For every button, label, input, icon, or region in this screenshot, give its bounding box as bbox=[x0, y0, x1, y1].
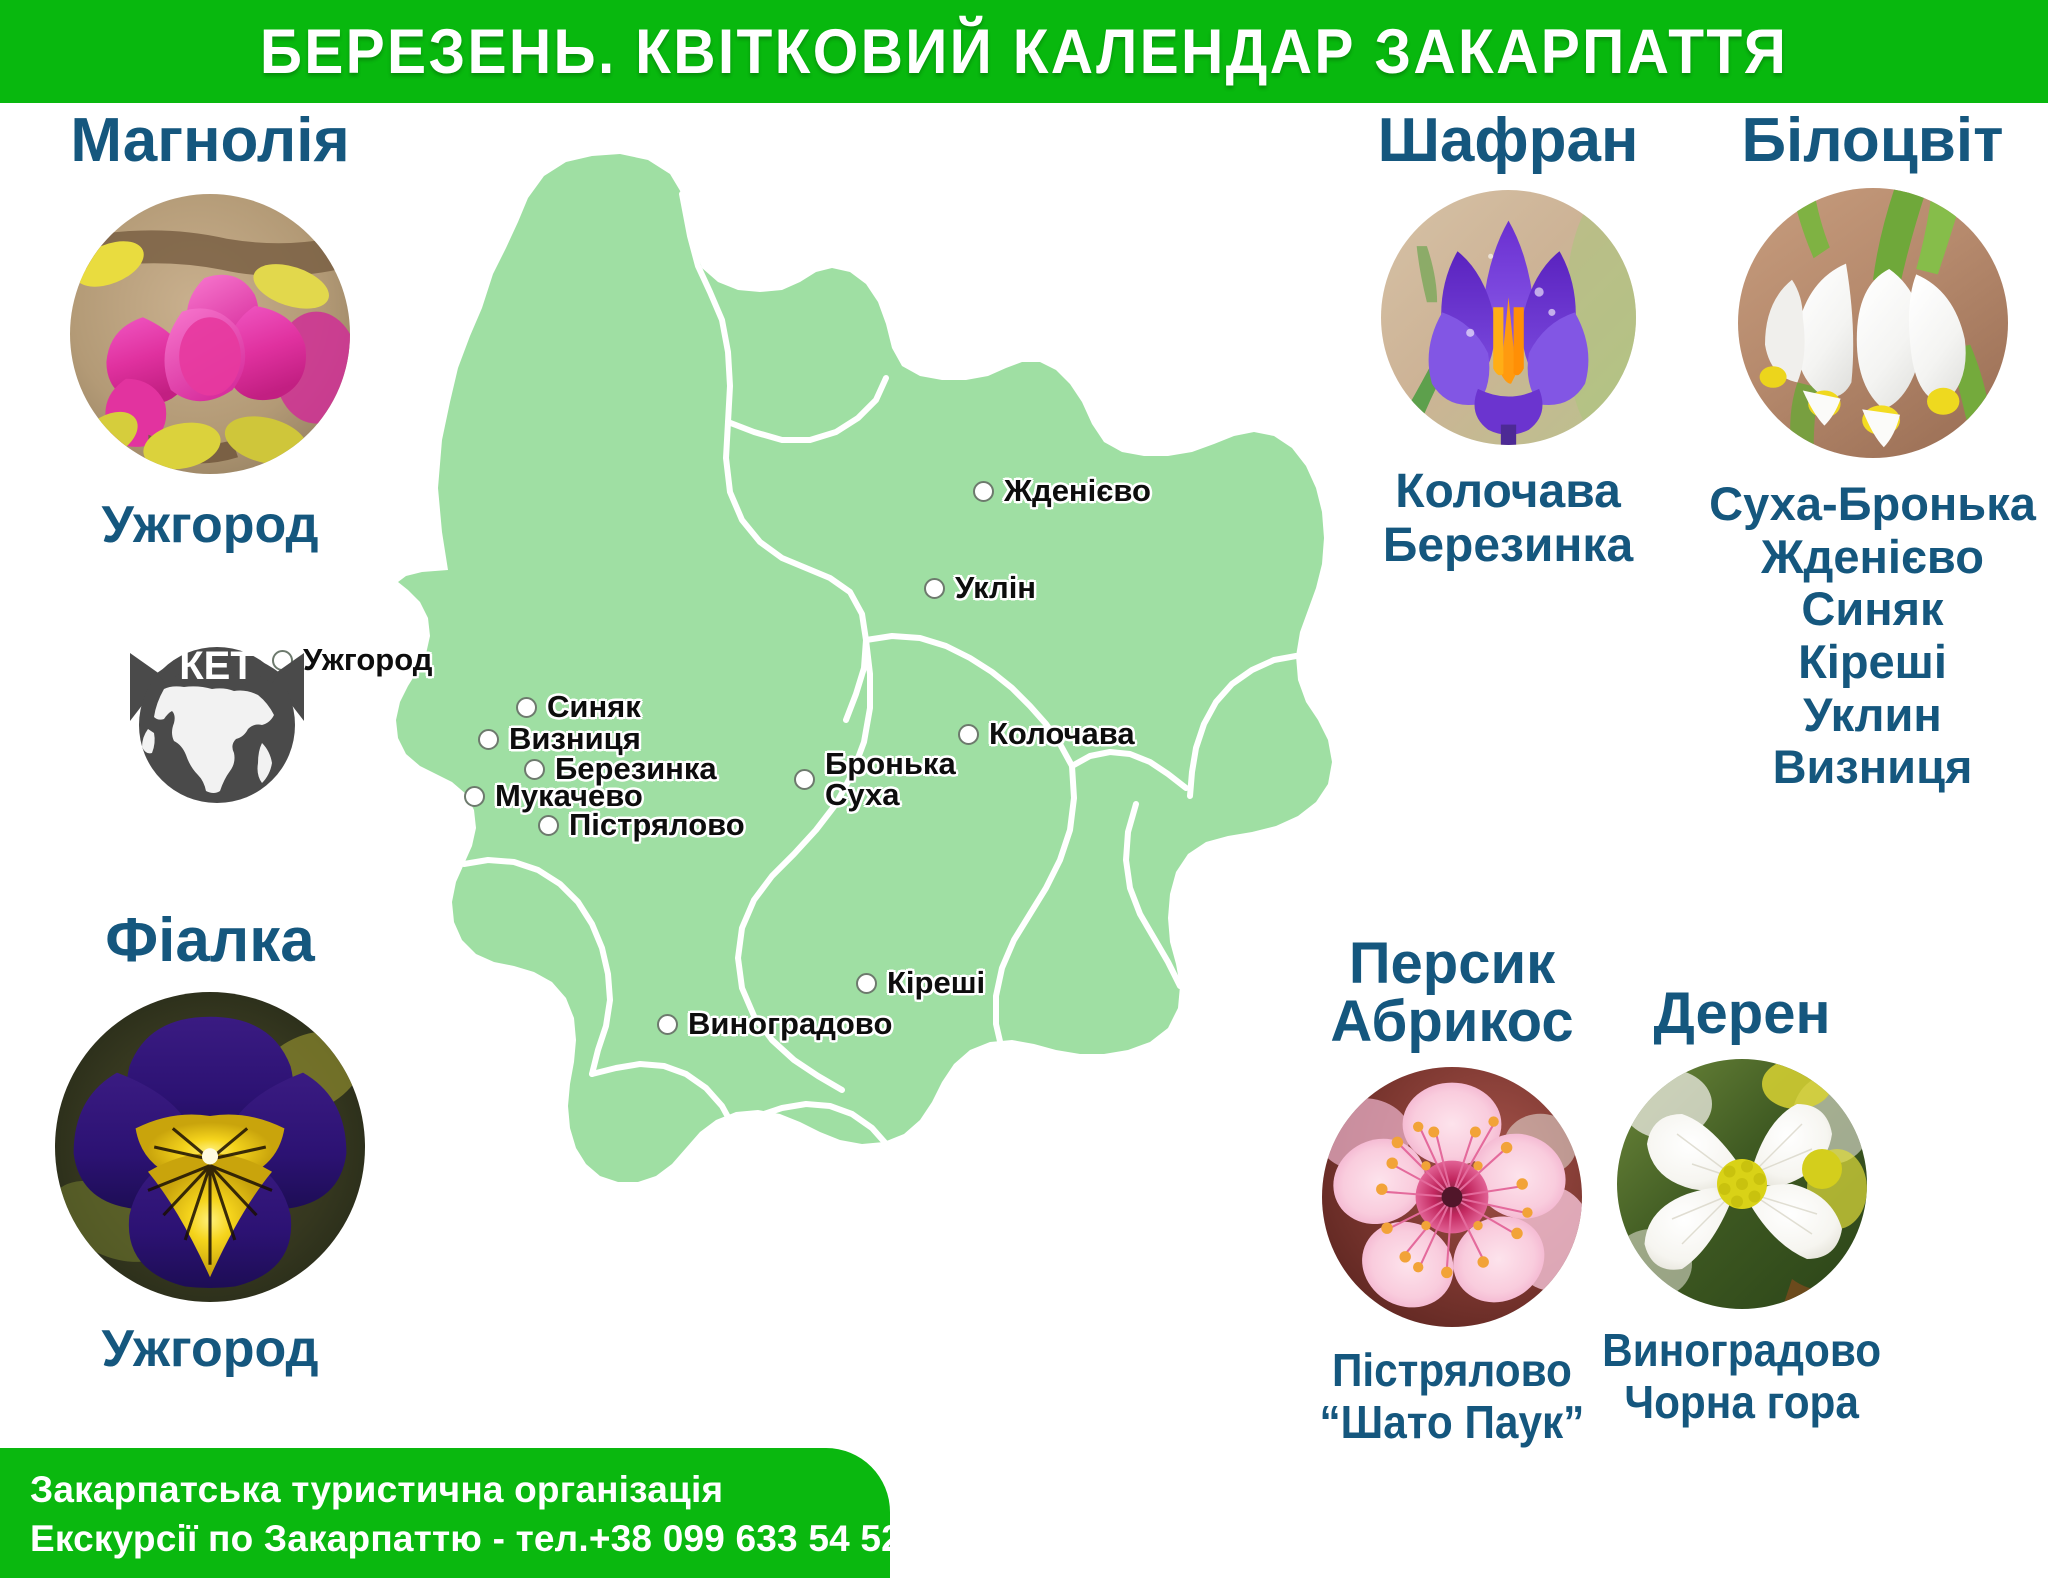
peach-photo bbox=[1322, 1067, 1582, 1327]
card-snowflake[interactable]: Білоцвіт bbox=[1700, 110, 2045, 794]
map-city-marker[interactable]: Кіреші bbox=[856, 967, 985, 1000]
city-label: Пістрялово bbox=[569, 809, 745, 842]
map-city-marker[interactable]: Жденієво bbox=[973, 475, 1151, 508]
city-dot-icon bbox=[958, 724, 979, 745]
card-violet[interactable]: Фіалка bbox=[40, 910, 380, 1378]
map-city-marker[interactable]: Синяк bbox=[516, 691, 641, 724]
card-places-peach: Пістрялово “Шато Паук” bbox=[1320, 1345, 1585, 1448]
card-magnolia[interactable]: Магнолія bbox=[40, 110, 380, 554]
page-title: БЕРЕЗЕНЬ. КВІТКОВИЙ КАЛЕНДАР ЗАКАРПАТТЯ bbox=[72, 0, 1977, 103]
violet-photo bbox=[55, 992, 365, 1302]
map-city-marker[interactable]: Уклін bbox=[924, 572, 1036, 605]
city-dot-icon bbox=[524, 759, 545, 780]
city-label: Уклін bbox=[955, 572, 1036, 605]
card-places-dogwood: Виноградово Чорна гора bbox=[1602, 1325, 1881, 1428]
map-svg bbox=[330, 140, 1340, 1300]
city-dot-icon bbox=[657, 1014, 678, 1035]
card-title-peach: Персик Абрикос bbox=[1330, 935, 1573, 1051]
snowflake-photo bbox=[1738, 188, 2008, 458]
card-title-violet: Фіалка bbox=[105, 910, 315, 972]
map-city-marker[interactable]: БронькаСуха bbox=[794, 748, 956, 810]
dogwood-photo bbox=[1617, 1059, 1867, 1309]
city-label: Кіреші bbox=[887, 967, 985, 1000]
footer-line-1: Закарпатська туристична організація bbox=[30, 1466, 890, 1515]
card-saffron[interactable]: Шафран bbox=[1358, 110, 1658, 573]
footer-line-2: Екскурсії по Закарпаттю - тел.+38 099 63… bbox=[30, 1515, 890, 1564]
region-map: Жденієво Уклін Ужгород Синяк Визниця Бер… bbox=[330, 140, 1340, 1300]
card-places-violet: Ужгород bbox=[101, 1320, 318, 1378]
city-dot-icon bbox=[464, 786, 485, 807]
city-label: Жденієво bbox=[1004, 475, 1151, 508]
header-band: БЕРЕЗЕНЬ. КВІТКОВИЙ КАЛЕНДАР ЗАКАРПАТТЯ bbox=[0, 0, 2048, 103]
card-title-snowflake: Білоцвіт bbox=[1741, 110, 2003, 172]
city-label: Колочава bbox=[989, 718, 1135, 751]
map-city-marker[interactable]: Пістрялово bbox=[538, 809, 745, 842]
card-places-saffron: Колочава Березинка bbox=[1383, 465, 1633, 573]
ket-logo-text: КЕТ bbox=[179, 644, 255, 688]
city-label: Синяк bbox=[547, 691, 641, 724]
city-dot-icon bbox=[856, 973, 877, 994]
infographic-page: БЕРЕЗЕНЬ. КВІТКОВИЙ КАЛЕНДАР ЗАКАРПАТТЯ bbox=[0, 0, 2048, 1578]
city-label: Ужгород bbox=[303, 644, 432, 677]
map-city-marker[interactable]: Виноградово bbox=[657, 1008, 892, 1041]
city-dot-icon bbox=[516, 697, 537, 718]
city-dot-icon bbox=[794, 769, 815, 790]
city-label: Виноградово bbox=[688, 1008, 892, 1041]
card-title-saffron: Шафран bbox=[1378, 110, 1639, 172]
crocus-photo bbox=[1381, 190, 1636, 445]
map-city-marker[interactable]: Колочава bbox=[958, 718, 1135, 751]
city-dot-icon bbox=[924, 578, 945, 599]
card-title-dogwood: Дерен bbox=[1653, 985, 1830, 1043]
magnolia-photo bbox=[70, 194, 350, 474]
city-label: БронькаСуха bbox=[825, 748, 956, 810]
card-peach[interactable]: Персик Абрикос bbox=[1302, 935, 1602, 1448]
footer-contact: Закарпатська туристична організація Екск… bbox=[30, 1466, 890, 1564]
ket-globe-logo[interactable]: КЕТ bbox=[112, 625, 322, 810]
card-places-snowflake: Суха-Бронька Жденієво Синяк Кіреші Уклин… bbox=[1709, 478, 2036, 794]
city-dot-icon bbox=[973, 481, 994, 502]
city-dot-icon bbox=[538, 815, 559, 836]
card-title-magnolia: Магнолія bbox=[70, 110, 349, 172]
city-dot-icon bbox=[478, 729, 499, 750]
card-places-magnolia: Ужгород bbox=[101, 496, 318, 554]
card-dogwood[interactable]: Дерен bbox=[1592, 985, 1892, 1428]
